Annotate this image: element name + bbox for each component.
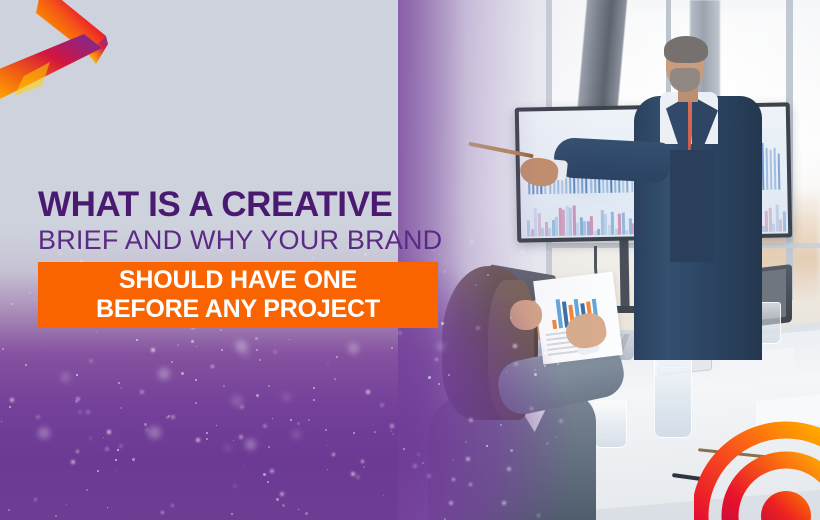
headline-block: WHAT IS A CREATIVE BRIEF AND WHY YOUR BR… — [38, 186, 458, 256]
water-bottle — [654, 356, 692, 438]
presenter-beard — [670, 68, 700, 92]
promotional-banner: WHAT IS A CREATIVE BRIEF AND WHY YOUR BR… — [0, 0, 820, 520]
business-presentation-photo — [398, 0, 820, 520]
chart-volume-bar — [782, 211, 785, 231]
chart-candle — [765, 148, 768, 190]
presenter-waistcoat — [670, 150, 714, 262]
headline-line-1: WHAT IS A CREATIVE — [38, 186, 458, 224]
cta-line-2: BEFORE ANY PROJECT — [96, 295, 380, 324]
presenter-hair — [664, 36, 708, 63]
cta-line-1: SHOULD HAVE ONE — [119, 266, 357, 295]
cta-banner[interactable]: SHOULD HAVE ONE BEFORE ANY PROJECT — [38, 262, 438, 328]
chart-candle — [774, 148, 777, 190]
presenter-arm — [553, 137, 671, 183]
display-stand-pole — [619, 238, 629, 310]
water-glass — [594, 400, 627, 448]
chart-candle — [778, 154, 781, 190]
report-bar — [552, 320, 557, 329]
chart-candle — [769, 150, 772, 190]
headline-line-2: BRIEF AND WHY YOUR BRAND — [38, 224, 458, 256]
attendee-hand — [510, 300, 542, 330]
